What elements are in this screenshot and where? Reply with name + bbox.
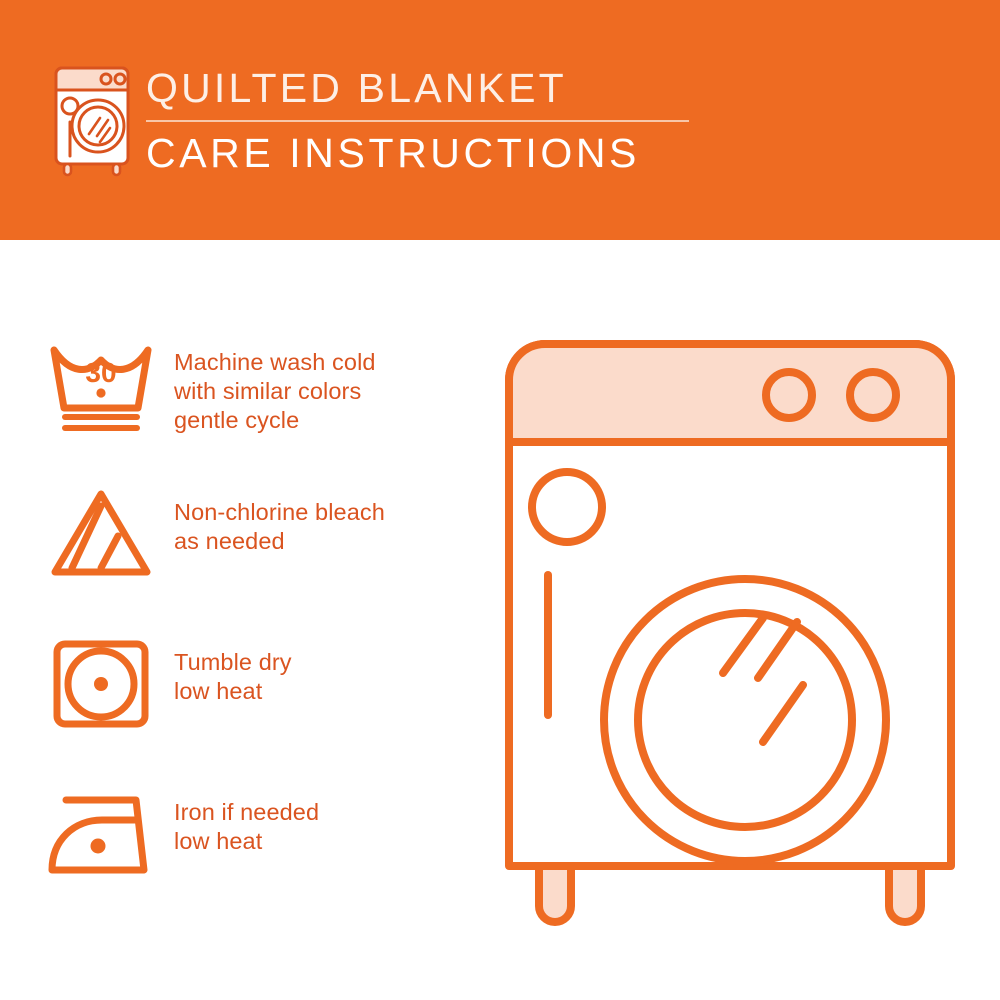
list-item: Tumble dry low heat [44,630,474,780]
instruction-line: with similar colors [174,377,376,406]
washing-machine-icon [44,62,140,180]
care-instructions-page: QUILTED BLANKET CARE INSTRUCTIONS 30 Mac… [0,0,1000,1000]
instruction-line: as needed [174,527,385,556]
instruction-line: Machine wash cold [174,348,376,377]
page-header: QUILTED BLANKET CARE INSTRUCTIONS [0,0,1000,240]
front-load-washing-machine-illustration [495,330,965,940]
instruction-line: Non-chlorine bleach [174,498,385,527]
instruction-line: low heat [174,827,319,856]
page-title-secondary: CARE INSTRUCTIONS [146,128,706,178]
header-title-block: QUILTED BLANKET CARE INSTRUCTIONS [146,64,706,178]
wash-temperature-label: 30 [85,357,116,388]
instruction-text: Iron if needed low heat [174,780,319,856]
instruction-text: Machine wash cold with similar colors ge… [174,330,376,435]
instruction-text: Tumble dry low heat [174,630,292,706]
list-item: 30 Machine wash cold with similar colors… [44,330,474,480]
tumble-dry-low-heat-icon [44,630,174,734]
instruction-line: low heat [174,677,292,706]
instruction-text: Non-chlorine bleach as needed [174,480,385,556]
list-item: Non-chlorine bleach as needed [44,480,474,630]
leg-left [539,866,571,922]
non-chlorine-bleach-triangle-icon [44,480,174,582]
leg-right [889,866,921,922]
instruction-line: gentle cycle [174,406,376,435]
care-instruction-list: 30 Machine wash cold with similar colors… [44,330,474,930]
wash-tub-30-gentle-icon: 30 [44,330,174,438]
iron-low-heat-icon [44,780,174,880]
instruction-line: Tumble dry [174,648,292,677]
page-title-primary: QUILTED BLANKET [146,64,706,112]
list-item: Iron if needed low heat [44,780,474,930]
title-divider [146,120,689,122]
instruction-line: Iron if needed [174,798,319,827]
